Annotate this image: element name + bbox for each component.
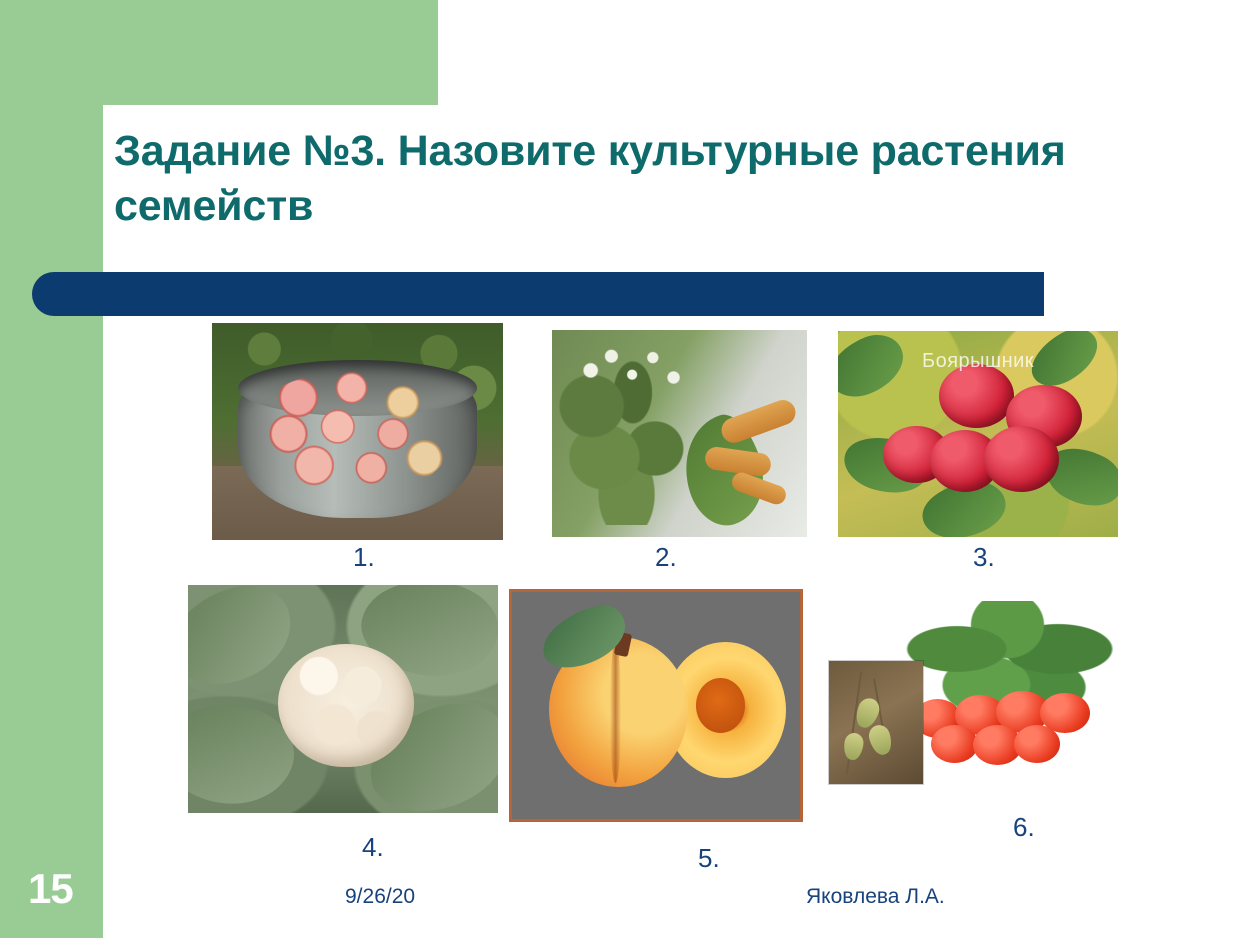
figure-2-label: 2. <box>655 542 677 573</box>
apples-in-bucket-photo <box>212 323 503 540</box>
figure-4-label: 4. <box>362 832 384 863</box>
page-number: 15 <box>28 865 73 913</box>
figure-3-label: 3. <box>973 542 995 573</box>
radish-photo <box>826 597 1119 810</box>
cauliflower-photo <box>188 585 498 813</box>
figure-5 <box>509 589 803 822</box>
figure-3: Боярышник <box>838 331 1118 537</box>
figure-5-label: 5. <box>698 843 720 874</box>
radish-seed-pods-inset-photo <box>829 661 923 785</box>
figure-4 <box>188 585 498 813</box>
hawthorn-watermark-label: Боярышник <box>838 350 1118 373</box>
green-left-strip <box>0 0 103 938</box>
figure-6-label: 6. <box>1013 812 1035 843</box>
figure-2 <box>552 330 807 537</box>
apricot-photo <box>509 589 803 822</box>
footer-date: 9/26/20 <box>345 885 415 909</box>
slide-canvas: Задание №3. Назовите культурные растения… <box>0 0 1250 938</box>
horseradish-plant-photo <box>552 330 807 537</box>
hawthorn-berries-photo: Боярышник <box>838 331 1118 537</box>
figure-1-label: 1. <box>353 542 375 573</box>
navy-accent-bar-extension <box>104 272 1044 316</box>
green-top-block <box>0 0 438 105</box>
footer-author: Яковлева Л.А. <box>806 885 945 909</box>
figure-6 <box>826 597 1119 810</box>
figure-1 <box>212 323 503 540</box>
page-title: Задание №3. Назовите культурные растения… <box>114 124 1114 234</box>
